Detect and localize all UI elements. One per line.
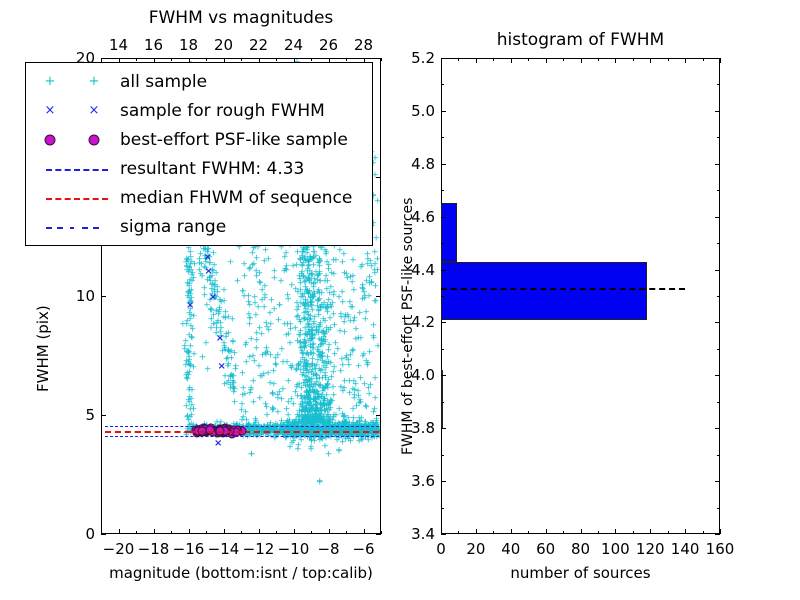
scatter-plus-marker: + (274, 391, 282, 400)
histogram-xlabel: number of sources (441, 564, 720, 582)
scatter-plus-marker: + (295, 303, 303, 312)
y-tick-label: 5 (57, 406, 95, 424)
x-top-tick-label: 18 (175, 36, 203, 54)
circle-icon (89, 135, 100, 146)
scatter-plus-marker: + (250, 260, 258, 269)
x-top-tick-label: 26 (315, 36, 343, 54)
scatter-plus-marker: + (361, 315, 369, 324)
hist-x-tick-label: 80 (565, 540, 597, 558)
hist-x-minor-tick (563, 531, 564, 534)
scatter-plus-marker: + (371, 405, 379, 414)
scatter-plus-marker: + (321, 370, 329, 379)
x-minor-tick (381, 531, 382, 534)
scatter-plus-marker: + (277, 278, 285, 287)
dashed-line-icon (46, 198, 108, 200)
histogram-panel-title: histogram of FWHM (441, 30, 720, 50)
hist-x-minor-tick-top (563, 58, 564, 61)
scatter-plus-marker: + (232, 363, 240, 372)
scatter-plus-marker: + (246, 301, 254, 310)
hist-x-minor-tick-top (703, 58, 704, 61)
legend-key: ++ (32, 68, 124, 97)
hist-y-tick-label: 4.8 (393, 155, 435, 173)
hist-y-minor-tick (441, 349, 444, 350)
scatter-plus-marker: + (363, 362, 371, 371)
scatter-plus-marker: + (252, 312, 260, 321)
histogram-bar (441, 370, 443, 428)
x-minor-tick (346, 531, 347, 534)
hist-x-minor-tick (703, 531, 704, 534)
histogram-ylabel: FWHM of best-effort PSF-like sources (400, 198, 416, 455)
legend-row: resultant FWHM: 4.33 (26, 155, 372, 184)
legend-label: all sample (120, 72, 207, 92)
legend-key (32, 184, 124, 213)
scatter-plus-marker: + (183, 263, 191, 272)
scatter-plus-marker: + (186, 249, 194, 258)
legend-label: median FHWM of sequence (120, 188, 352, 208)
scatter-plus-marker: + (355, 362, 363, 371)
hist-x-tick (511, 529, 512, 534)
x-minor-tick (136, 531, 137, 534)
scatter-plus-marker: + (358, 261, 366, 270)
hist-y-tick-right (715, 58, 720, 59)
scatter-cross-marker: × (216, 334, 224, 344)
hist-x-tick-top (511, 58, 512, 63)
x-top-tick-label: 20 (210, 36, 238, 54)
hist-y-minor-tick-right (717, 508, 720, 509)
x-top-tick-label: 16 (140, 36, 168, 54)
scatter-panel-title: FWHM vs magnitudes (101, 8, 381, 28)
hist-x-tick-top (650, 58, 651, 63)
scatter-plus-marker: + (339, 299, 347, 308)
scatter-plus-marker: + (242, 358, 250, 367)
scatter-plus-marker: + (242, 408, 250, 417)
hist-x-tick (615, 529, 616, 534)
scatter-plus-marker: + (291, 325, 299, 334)
scatter-plus-marker: + (216, 296, 224, 305)
scatter-plus-marker: + (338, 289, 346, 298)
scatter-plus-marker: + (295, 363, 303, 372)
scatter-plus-marker: + (332, 339, 340, 348)
histogram-bar (441, 262, 647, 320)
hist-x-tick-label: 140 (669, 540, 701, 558)
scatter-plus-marker: + (316, 258, 324, 267)
legend-label: sigma range (120, 217, 226, 237)
scatter-plus-marker: + (326, 301, 334, 310)
scatter-plus-marker: + (239, 370, 247, 379)
scatter-plus-marker: + (316, 477, 324, 486)
x-tick-label: −14 (208, 540, 240, 558)
scatter-plus-marker: + (359, 353, 367, 362)
scatter-plus-marker: + (279, 358, 287, 367)
hist-x-minor-tick (458, 531, 459, 534)
scatter-plus-marker: + (257, 279, 265, 288)
scatter-plus-marker: + (262, 401, 270, 410)
x-tick-label: −8 (313, 540, 345, 558)
hist-y-tick (441, 270, 446, 271)
scatter-plus-marker: + (312, 372, 320, 381)
x-top-minor-tick (171, 58, 172, 61)
hist-x-tick-label: 120 (634, 540, 666, 558)
scatter-plus-marker: + (321, 277, 329, 286)
y-tick-right (376, 58, 381, 59)
scatter-plus-marker: + (188, 277, 196, 286)
scatter-plus-marker: + (185, 289, 193, 298)
scatter-plus-marker: + (304, 268, 312, 277)
scatter-plus-marker: + (264, 370, 272, 379)
scatter-plus-marker: + (309, 334, 317, 343)
scatter-plus-marker: + (239, 391, 247, 400)
hist-y-tick-label: 5.0 (393, 102, 435, 120)
scatter-plus-marker: + (372, 297, 380, 306)
legend-row: best-effort PSF-like sample (26, 126, 372, 155)
x-tick (364, 529, 365, 534)
scatter-plus-marker: + (227, 258, 235, 267)
scatter-cross-marker: × (186, 301, 194, 311)
hist-y-tick-right (715, 164, 720, 165)
scatter-plus-marker: + (349, 256, 357, 265)
scatter-plus-marker: + (286, 339, 294, 348)
scatter-plus-marker: + (284, 291, 292, 300)
hist-x-minor-tick (598, 531, 599, 534)
hist-y-tick-label: 3.4 (393, 525, 435, 543)
x-tick-label: −16 (173, 540, 205, 558)
x-top-minor-tick (346, 58, 347, 61)
histogram-bar (441, 203, 457, 261)
scatter-plus-marker: + (302, 306, 310, 315)
x-tick (294, 529, 295, 534)
hist-y-tick-right (715, 534, 720, 535)
scatter-plus-marker: + (319, 315, 327, 324)
legend-key: ×× (32, 97, 124, 126)
scatter-plus-marker: + (350, 286, 358, 295)
hist-y-minor-tick-right (717, 190, 720, 191)
legend-row: median FHWM of sequence (26, 184, 372, 213)
x-top-minor-tick (381, 58, 382, 61)
scatter-plus-marker: + (330, 270, 338, 279)
hist-y-tick (441, 322, 446, 323)
x-top-minor-tick (206, 58, 207, 61)
scatter-plus-marker: + (335, 446, 343, 455)
scatter-plus-marker: + (188, 334, 196, 343)
histogram-reference-line (441, 288, 685, 290)
scatter-plus-marker: + (371, 266, 379, 275)
hist-x-minor-tick (668, 531, 669, 534)
hist-x-tick (685, 529, 686, 534)
hist-y-tick-label: 5.2 (393, 49, 435, 67)
hist-x-minor-tick (528, 531, 529, 534)
scatter-plus-marker: + (256, 269, 264, 278)
scatter-plus-marker: + (283, 263, 291, 272)
hist-y-tick (441, 58, 446, 59)
scatter-plus-marker: + (354, 334, 362, 343)
scatter-plus-marker: + (359, 285, 367, 294)
hist-x-minor-tick-top (598, 58, 599, 61)
scatter-plus-marker: + (223, 380, 231, 389)
scatter-plus-marker: + (325, 451, 333, 460)
x-minor-tick (276, 531, 277, 534)
hist-x-tick (581, 529, 582, 534)
hist-y-tick-right (715, 270, 720, 271)
scatter-plus-marker: + (241, 272, 249, 281)
scatter-plus-marker: + (220, 286, 228, 295)
plot-legend: ++all sample××sample for rough FWHMbest-… (25, 62, 373, 246)
scatter-plus-marker: + (253, 330, 261, 339)
scatter-plus-marker: + (183, 375, 191, 384)
x-tick (154, 529, 155, 534)
scatter-plus-marker: + (281, 320, 289, 329)
scatter-plus-marker: + (303, 364, 311, 373)
scatter-plus-marker: + (258, 296, 266, 305)
x-top-minor-tick (136, 58, 137, 61)
hist-x-minor-tick-top (668, 58, 669, 61)
hist-y-minor-tick (441, 296, 444, 297)
y-tick-label: 0 (57, 525, 95, 543)
hist-y-minor-tick (441, 190, 444, 191)
hist-y-tick (441, 111, 446, 112)
scatter-plus-marker: + (284, 411, 292, 420)
legend-key (32, 213, 124, 242)
y-tick (101, 296, 106, 297)
hist-x-tick-top (546, 58, 547, 63)
y-tick-right (376, 296, 381, 297)
x-minor-tick (311, 531, 312, 534)
hist-y-minor-tick-right (717, 137, 720, 138)
hist-x-tick-label: 160 (704, 540, 736, 558)
dash-dot-line-icon (70, 227, 74, 229)
scatter-plus-marker: + (199, 353, 207, 362)
x-tick (189, 529, 190, 534)
y-tick (101, 415, 106, 416)
scatter-plus-marker: + (344, 312, 352, 321)
scatter-plus-marker: + (370, 334, 378, 343)
scatter-plus-marker: + (186, 363, 194, 372)
scatter-plus-marker: + (325, 327, 333, 336)
hist-x-tick (546, 529, 547, 534)
hist-y-minor-tick (441, 137, 444, 138)
scatter-plus-marker: + (228, 315, 236, 324)
hist-y-minor-tick (441, 402, 444, 403)
dash-dot-line-icon (46, 227, 63, 229)
scatter-plus-marker: + (349, 272, 357, 281)
hist-y-minor-tick-right (717, 349, 720, 350)
x-tick (259, 529, 260, 534)
scatter-plus-marker: + (372, 235, 380, 244)
scatter-plus-marker: + (300, 344, 308, 353)
scatter-plus-marker: + (374, 343, 380, 352)
hist-x-tick-top (685, 58, 686, 63)
hist-x-tick (476, 529, 477, 534)
scatter-plus-marker: + (296, 273, 304, 282)
hist-x-minor-tick-top (528, 58, 529, 61)
scatter-plus-marker: + (313, 277, 321, 286)
hist-x-tick-top (581, 58, 582, 63)
scatter-plus-marker: + (204, 365, 212, 374)
scatter-cross-marker: × (218, 362, 226, 372)
y-tick-right (376, 415, 381, 416)
scatter-cross-marker: × (204, 267, 212, 277)
scatter-plus-marker: + (276, 301, 284, 310)
x-tick-label: −18 (138, 540, 170, 558)
hist-y-minor-tick-right (717, 455, 720, 456)
scatter-plus-marker: + (251, 358, 259, 367)
x-top-tick-label: 14 (105, 36, 133, 54)
scatter-plus-marker: + (272, 361, 280, 370)
x-top-tick-label: 28 (350, 36, 378, 54)
hist-y-tick (441, 428, 446, 429)
dash-dot-line-icon (82, 227, 99, 229)
reference-line (189, 431, 243, 433)
legend-label: sample for rough FWHM (120, 101, 325, 121)
legend-label: resultant FWHM: 4.33 (120, 159, 304, 179)
x-tick-label: −20 (103, 540, 135, 558)
hist-y-minor-tick (441, 84, 444, 85)
x-tick-label: −12 (243, 540, 275, 558)
x-tick-label: −6 (348, 540, 380, 558)
hist-y-tick-right (715, 481, 720, 482)
hist-x-tick-top (720, 58, 721, 63)
x-minor-tick (206, 531, 207, 534)
scatter-plus-marker: + (231, 399, 239, 408)
scatter-plus-marker: + (370, 321, 378, 330)
x-tick (329, 529, 330, 534)
scatter-cross-marker: × (204, 253, 212, 263)
histogram-data-layer (442, 59, 719, 533)
hist-y-minor-tick (441, 455, 444, 456)
hist-y-tick (441, 217, 446, 218)
scatter-plus-marker: + (221, 346, 229, 355)
y-tick (101, 534, 106, 535)
y-tick-right (376, 534, 381, 535)
scatter-plus-marker: + (339, 258, 347, 267)
hist-y-tick (441, 375, 446, 376)
scatter-plus-marker: + (314, 296, 322, 305)
scatter-plus-marker: + (356, 396, 364, 405)
hist-y-tick (441, 534, 446, 535)
scatter-plus-marker: + (295, 381, 303, 390)
legend-row: ++all sample (26, 68, 372, 97)
hist-y-minor-tick-right (717, 296, 720, 297)
scatter-plus-marker: + (297, 287, 305, 296)
hist-x-tick-label: 40 (495, 540, 527, 558)
x-top-minor-tick (311, 58, 312, 61)
scatter-plus-marker: + (338, 355, 346, 364)
scatter-plus-marker: + (239, 287, 247, 296)
scatter-cross-marker: × (209, 293, 217, 303)
scatter-plus-marker: + (305, 382, 313, 391)
x-tick (224, 529, 225, 534)
x-tick (119, 529, 120, 534)
hist-x-minor-tick-top (493, 58, 494, 61)
scatter-plus-marker: + (357, 437, 365, 446)
scatter-plus-marker: + (326, 290, 334, 299)
hist-y-minor-tick-right (717, 84, 720, 85)
x-tick-label: −10 (278, 540, 310, 558)
scatter-plus-marker: + (312, 382, 320, 391)
scatter-plus-marker: + (183, 320, 191, 329)
scatter-plus-marker: + (337, 368, 345, 377)
legend-row: sigma range (26, 213, 372, 242)
scatter-plus-marker: + (263, 349, 271, 358)
legend-row: ××sample for rough FWHM (26, 97, 372, 126)
scatter-plus-marker: + (288, 282, 296, 291)
hist-x-tick (650, 529, 651, 534)
hist-y-tick-right (715, 322, 720, 323)
scatter-plus-marker: + (200, 284, 208, 293)
dashed-line-icon (46, 169, 108, 171)
scatter-plus-marker: + (341, 328, 349, 337)
hist-y-minor-tick (441, 243, 444, 244)
hist-x-tick-label: 20 (460, 540, 492, 558)
x-top-minor-tick (276, 58, 277, 61)
hist-x-tick-label: 100 (599, 540, 631, 558)
scatter-plus-marker: + (270, 268, 278, 277)
scatter-plus-marker: + (330, 391, 338, 400)
scatter-plus-marker: + (318, 353, 326, 362)
scatter-xlabel: magnitude (bottom:isnt / top:calib) (101, 564, 381, 582)
hist-y-tick-right (715, 428, 720, 429)
hist-y-tick-right (715, 111, 720, 112)
scatter-plus-marker: + (368, 279, 376, 288)
x-minor-tick (171, 531, 172, 534)
legend-key (32, 126, 124, 155)
scatter-plus-marker: + (248, 451, 256, 460)
hist-x-tick-top (615, 58, 616, 63)
figure-canvas: FWHM vs magnitudes +++++++++++++++++++++… (0, 0, 800, 600)
scatter-plus-marker: + (256, 372, 264, 381)
scatter-plus-marker: + (197, 270, 205, 279)
hist-x-minor-tick (493, 531, 494, 534)
hist-x-minor-tick-top (458, 58, 459, 61)
circle-icon (45, 135, 56, 146)
x-top-minor-tick (241, 58, 242, 61)
hist-y-tick-right (715, 375, 720, 376)
y-tick (101, 58, 106, 59)
scatter-plus-marker: + (298, 401, 306, 410)
scatter-plus-marker: + (284, 377, 292, 386)
scatter-plus-marker: + (261, 258, 269, 267)
x-minor-tick (241, 531, 242, 534)
scatter-plus-marker: + (345, 362, 353, 371)
scatter-plus-marker: + (202, 339, 210, 348)
scatter-ylabel: FWHM (pix) (34, 305, 52, 392)
hist-y-minor-tick-right (717, 243, 720, 244)
scatter-plus-marker: + (298, 249, 306, 258)
hist-x-minor-tick (633, 531, 634, 534)
scatter-plus-marker: + (371, 394, 379, 403)
scatter-plus-marker: + (346, 377, 354, 386)
y-tick-right (376, 177, 381, 178)
hist-y-tick-label: 3.6 (393, 472, 435, 490)
x-top-tick-label: 24 (280, 36, 308, 54)
hist-y-tick-right (715, 217, 720, 218)
hist-y-tick (441, 164, 446, 165)
scatter-cross-marker: × (214, 439, 222, 449)
x-top-tick-label: 22 (245, 36, 273, 54)
hist-y-minor-tick-right (717, 402, 720, 403)
hist-x-tick-label: 60 (530, 540, 562, 558)
legend-label: best-effort PSF-like sample (120, 130, 348, 150)
scatter-plus-marker: + (367, 382, 375, 391)
hist-x-tick (720, 529, 721, 534)
hist-x-tick-top (476, 58, 477, 63)
scatter-plus-marker: + (267, 320, 275, 329)
scatter-plus-marker: + (185, 349, 193, 358)
hist-y-tick (441, 481, 446, 482)
hist-x-minor-tick-top (633, 58, 634, 61)
y-tick-label: 10 (57, 287, 95, 305)
hist-y-minor-tick (441, 508, 444, 509)
legend-key (32, 155, 124, 184)
